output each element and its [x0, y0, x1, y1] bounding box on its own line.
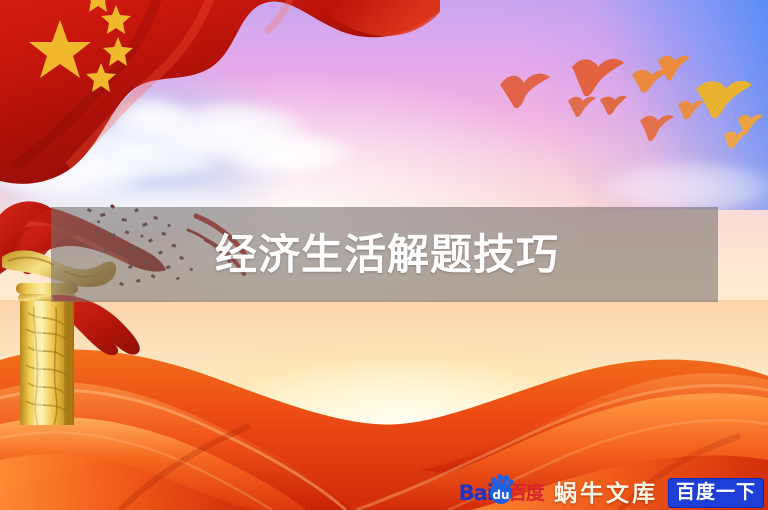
baidu-search-button[interactable]: 百度一下: [668, 478, 764, 508]
cloud-icon: [600, 160, 768, 210]
baidu-latin-text: Bai: [459, 483, 493, 504]
baidu-logo[interactable]: Bai du 百度: [459, 480, 544, 506]
site-brand-label: 蜗牛文库: [554, 482, 658, 505]
baidu-paw-label: du: [492, 489, 509, 501]
page-title: 经济生活解题技巧: [215, 234, 559, 276]
watermark-bar: Bai du 百度 蜗牛文库 百度一下: [459, 476, 768, 510]
baidu-chinese-text: 百度: [508, 484, 544, 503]
chinese-national-flag-icon: [0, 0, 440, 190]
title-banner: 经济生活解题技巧: [51, 207, 718, 302]
poster-image: 经济生活解题技巧 Bai du 百度 蜗牛文库 百度一下: [0, 0, 768, 510]
baidu-paw-icon: du: [490, 482, 512, 504]
flying-birds-flock-icon: [480, 45, 768, 160]
